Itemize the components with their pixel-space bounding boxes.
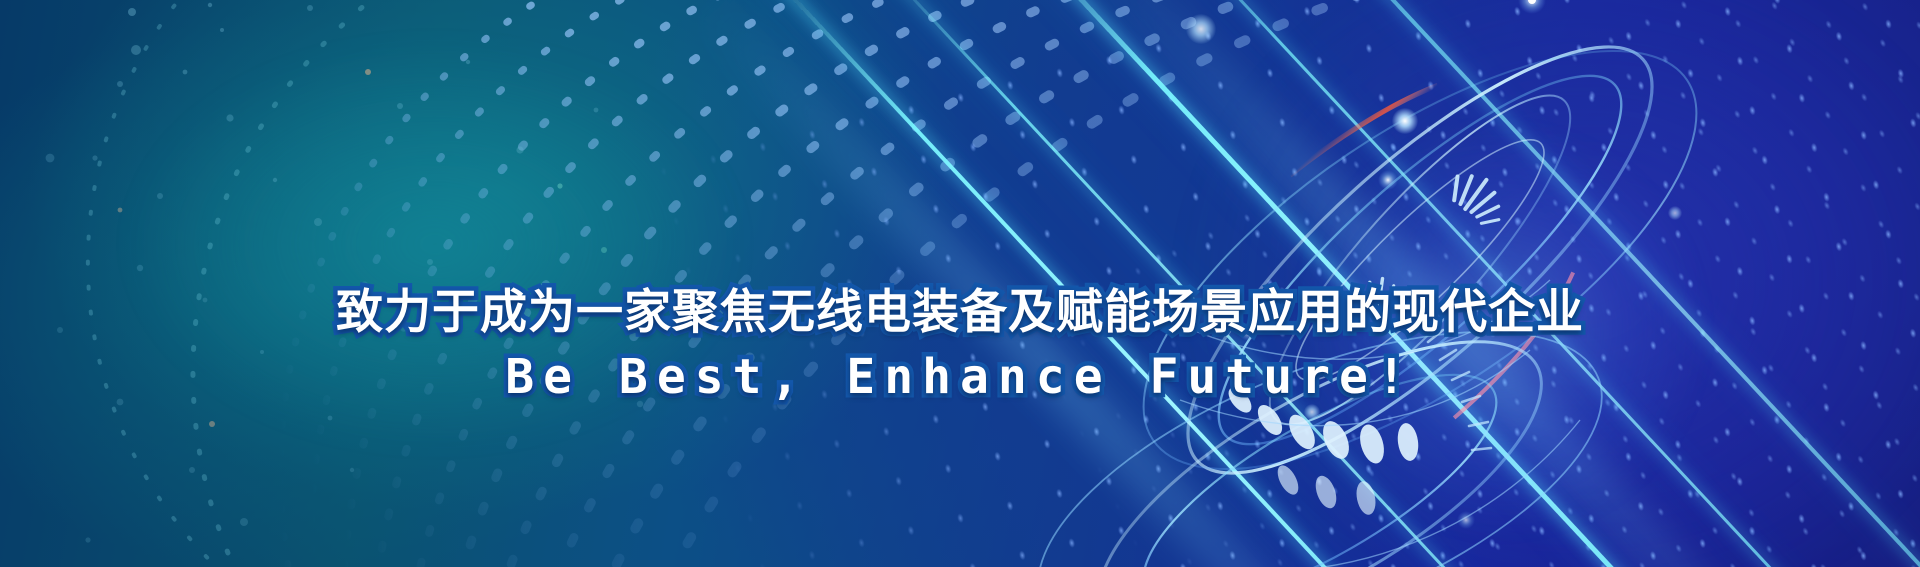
sparkle [1186,14,1216,44]
banner-copy: 致力于成为一家聚焦无线电装备及赋能场景应用的现代企业 Be Best, Enha… [0,288,1920,405]
headline-chinese: 致力于成为一家聚焦无线电装备及赋能场景应用的现代企业 [0,288,1920,338]
sparkle [1668,206,1682,220]
headline-english: Be Best, Enhance Future! [0,350,1920,405]
sparkle [1392,108,1418,134]
hero-banner: 致力于成为一家聚焦无线电装备及赋能场景应用的现代企业 Be Best, Enha… [0,0,1920,567]
sparkle [1304,404,1320,420]
